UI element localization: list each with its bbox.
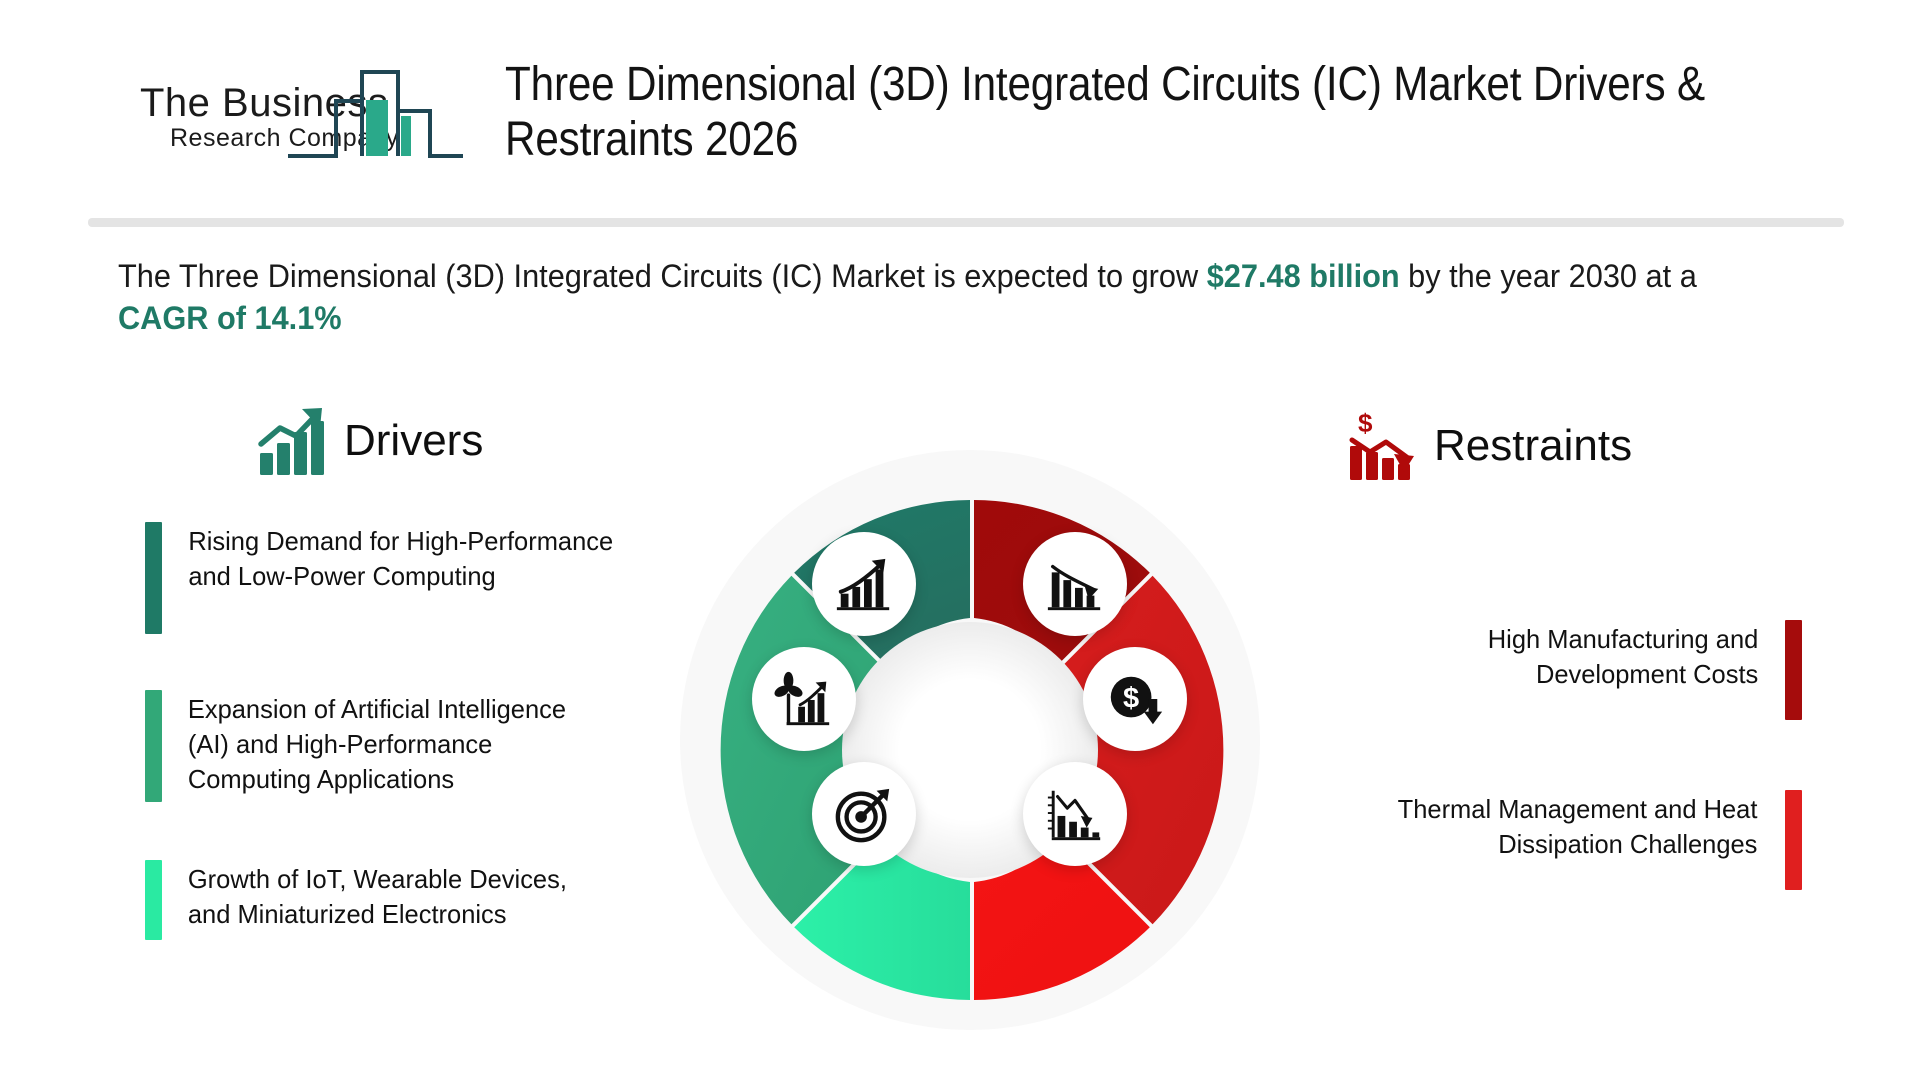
logo-bar-teal-1 — [366, 100, 388, 156]
restraint-list-item: Thermal Management and Heat Dissipation … — [1394, 790, 1802, 890]
driver-accent-bar — [145, 690, 162, 802]
drivers-restraints-wheel: $ — [660, 440, 1280, 1060]
dollar-glyph: $ — [1123, 683, 1139, 715]
market-value: $27.48 billion — [1207, 258, 1400, 294]
driver-list-item: Expansion of Artificial Intelligence (AI… — [145, 690, 570, 802]
rising-bar-chart-arrow-icon — [258, 405, 328, 477]
falling-line-bar-chart-icon-bubble — [1023, 762, 1127, 866]
growth-bar-chart-up-icon — [833, 553, 895, 615]
restraint-list-item: High Manufacturing and Development Costs — [1485, 620, 1802, 720]
driver-item-text: Rising Demand for High-Performance and L… — [188, 522, 613, 634]
restraint-item-text: Thermal Management and Heat Dissipation … — [1398, 790, 1758, 890]
driver-list-item: Growth of IoT, Wearable Devices, and Min… — [145, 860, 571, 940]
summary-mid-text: by the year 2030 at a — [1400, 258, 1697, 294]
growth-bar-chart-up-icon-bubble — [812, 532, 916, 636]
falling-bar-chart-dollar-icon: $ — [1348, 410, 1418, 482]
target-dart-icon-bubble — [812, 762, 916, 866]
restraint-accent-bar — [1785, 620, 1802, 720]
page-header: The Business Research Company Three Dime… — [0, 0, 1920, 200]
driver-item-text: Growth of IoT, Wearable Devices, and Min… — [188, 860, 567, 940]
logo-text-line2: Research Company — [170, 124, 399, 152]
wheel-segments — [660, 440, 1280, 1060]
dollar-glyph: $ — [1358, 410, 1373, 438]
drivers-section-header: Drivers — [258, 405, 483, 477]
restraints-section-header: $ Restraints — [1348, 410, 1632, 482]
company-logo: The Business Research Company — [138, 58, 468, 168]
infographic-page: The Business Research Company Three Dime… — [0, 0, 1920, 1080]
driver-list-item: Rising Demand for High-Performance and L… — [145, 522, 618, 634]
logo-bar-teal-2 — [401, 116, 411, 156]
plant-growth-bar-chart-icon — [773, 668, 835, 730]
target-dart-icon — [833, 783, 895, 845]
declining-bar-chart-icon — [1044, 553, 1106, 615]
driver-accent-bar — [145, 860, 162, 940]
dollar-down-arrow-icon: $ — [1104, 668, 1166, 730]
driver-item-text: Expansion of Artificial Intelligence (AI… — [188, 690, 566, 802]
page-title: Three Dimensional (3D) Integrated Circui… — [505, 58, 1719, 167]
header-divider — [88, 218, 1844, 227]
falling-line-bar-chart-icon — [1044, 783, 1106, 845]
restraint-item-text: High Manufacturing and Development Costs — [1488, 620, 1759, 720]
driver-accent-bar — [145, 522, 162, 634]
bar-chart-logo-icon: The Business Research Company — [138, 58, 468, 168]
restraint-accent-bar — [1785, 790, 1802, 890]
restraints-heading: Restraints — [1434, 424, 1632, 468]
dollar-down-arrow-icon-bubble: $ — [1083, 647, 1187, 751]
summary-pre-text: The Three Dimensional (3D) Integrated Ci… — [118, 258, 1207, 294]
cagr-value: CAGR of 14.1% — [118, 300, 342, 336]
drivers-heading: Drivers — [344, 419, 483, 463]
market-summary-text: The Three Dimensional (3D) Integrated Ci… — [118, 256, 1750, 339]
title-block: Three Dimensional (3D) Integrated Circui… — [505, 58, 1885, 167]
declining-bar-chart-icon-bubble — [1023, 532, 1127, 636]
plant-growth-bar-chart-icon-bubble — [752, 647, 856, 751]
